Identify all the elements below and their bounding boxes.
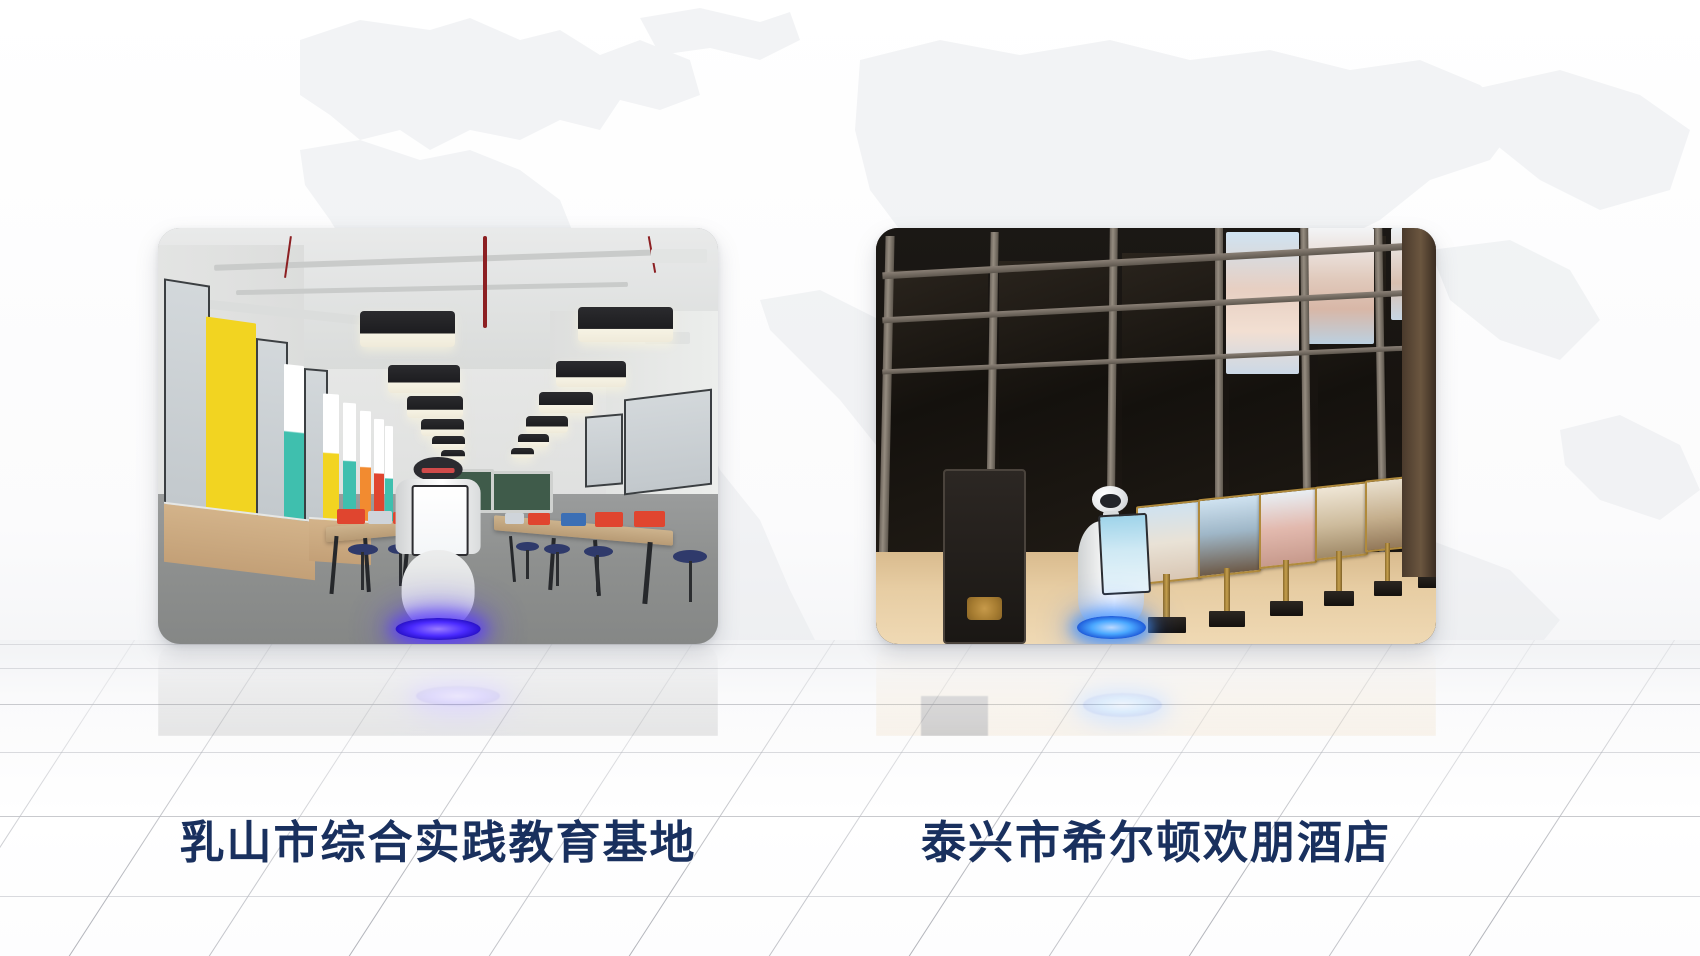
display-stand xyxy=(1313,484,1366,609)
digital-kiosk xyxy=(943,469,1025,644)
caption-right: 泰兴市希尔顿欢朋酒店 xyxy=(876,806,1436,871)
perspective-floor xyxy=(0,640,1700,956)
service-robot xyxy=(388,457,489,644)
slide-canvas: 乳山市综合实践教育基地 xyxy=(0,0,1700,956)
display-stand xyxy=(1257,490,1316,619)
hotel-lobby-robot-photo[interactable] xyxy=(876,228,1436,644)
display-stand xyxy=(1195,496,1259,629)
photo-card-right[interactable] xyxy=(876,228,1436,644)
caption-left: 乳山市综合实践教育基地 xyxy=(158,806,718,871)
service-robot xyxy=(1072,486,1150,644)
photo-card-left[interactable] xyxy=(158,228,718,644)
classroom-robot-photo[interactable] xyxy=(158,228,718,644)
